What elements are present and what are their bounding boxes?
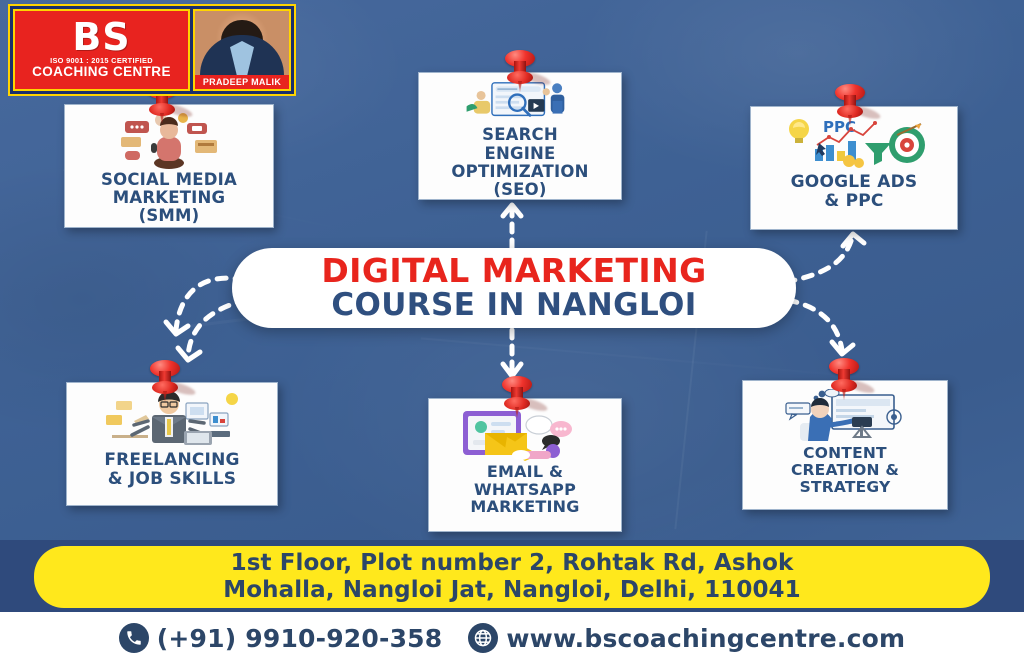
- logo-initials: BS: [72, 19, 130, 55]
- phone-icon: [119, 623, 149, 653]
- contact-footer: (+91) 9910-920-358 www.bscoachingcentre.…: [0, 612, 1024, 664]
- card-title: FREELANCING & JOB SKILLS: [67, 451, 277, 488]
- card-title: CONTENT CREATION & STRATEGY: [743, 445, 947, 496]
- logo-red-panel: BS ISO 9001 : 2015 CERTIFIED COACHING CE…: [13, 9, 190, 91]
- service-card-content-creation[interactable]: CONTENT CREATION & STRATEGY: [742, 380, 948, 510]
- service-card-freelancing[interactable]: FREELANCING & JOB SKILLS: [66, 382, 278, 506]
- card-title: EMAIL & WHATSAPP MARKETING: [429, 463, 621, 516]
- card-title: SOCIAL MEDIA MARKETING (SMM): [65, 171, 273, 225]
- headline-pill: DIGITAL MARKETING COURSE IN NANGLOI: [232, 248, 796, 328]
- email-illustration: [455, 407, 595, 461]
- freelancer-illustration: [92, 391, 252, 447]
- headline-line-1: DIGITAL MARKETING: [321, 254, 706, 288]
- brand-logo: BS ISO 9001 : 2015 CERTIFIED COACHING CE…: [8, 4, 296, 96]
- service-card-email-whatsapp[interactable]: EMAIL & WHATSAPP MARKETING: [428, 398, 622, 532]
- service-card-social-media-marketing[interactable]: SOCIAL MEDIA MARKETING (SMM): [64, 104, 274, 228]
- phone-number: (+91) 9910-920-358: [157, 624, 443, 653]
- address-line-1: 1st Floor, Plot number 2, Rohtak Rd, Ash…: [231, 550, 794, 577]
- search-engine-illustration: [455, 81, 585, 124]
- phone-contact[interactable]: (+91) 9910-920-358: [119, 623, 443, 653]
- ppc-badge-text: PPC: [823, 118, 856, 136]
- website-contact[interactable]: www.bscoachingcentre.com: [468, 623, 905, 653]
- logo-name: COACHING CENTRE: [32, 65, 171, 79]
- background-streak: [421, 337, 939, 384]
- founder-name-label: PRADEEP MALIK: [195, 75, 289, 90]
- ppc-chart-illustration: PPC: [779, 115, 929, 169]
- social-media-illustration: [109, 113, 229, 169]
- address-banner: 1st Floor, Plot number 2, Rohtak Rd, Ash…: [34, 546, 990, 608]
- founder-photo: PRADEEP MALIK: [193, 9, 291, 91]
- poster-canvas: BS ISO 9001 : 2015 CERTIFIED COACHING CE…: [0, 0, 1024, 664]
- service-card-seo[interactable]: SEARCH ENGINE OPTIMIZATION (SEO): [418, 72, 622, 200]
- service-card-google-ads-ppc[interactable]: PPC GOOGLE ADS & PPC: [750, 106, 958, 230]
- card-title: SEARCH ENGINE OPTIMIZATION (SEO): [419, 126, 621, 199]
- globe-icon: [468, 623, 498, 653]
- content-creation-illustration: [770, 389, 920, 443]
- address-line-2: Mohalla, Nangloi Jat, Nangloi, Delhi, 11…: [223, 577, 801, 604]
- headline-line-2: COURSE IN NANGLOI: [331, 289, 696, 322]
- website-url: www.bscoachingcentre.com: [506, 624, 905, 653]
- card-title: GOOGLE ADS & PPC: [751, 173, 957, 210]
